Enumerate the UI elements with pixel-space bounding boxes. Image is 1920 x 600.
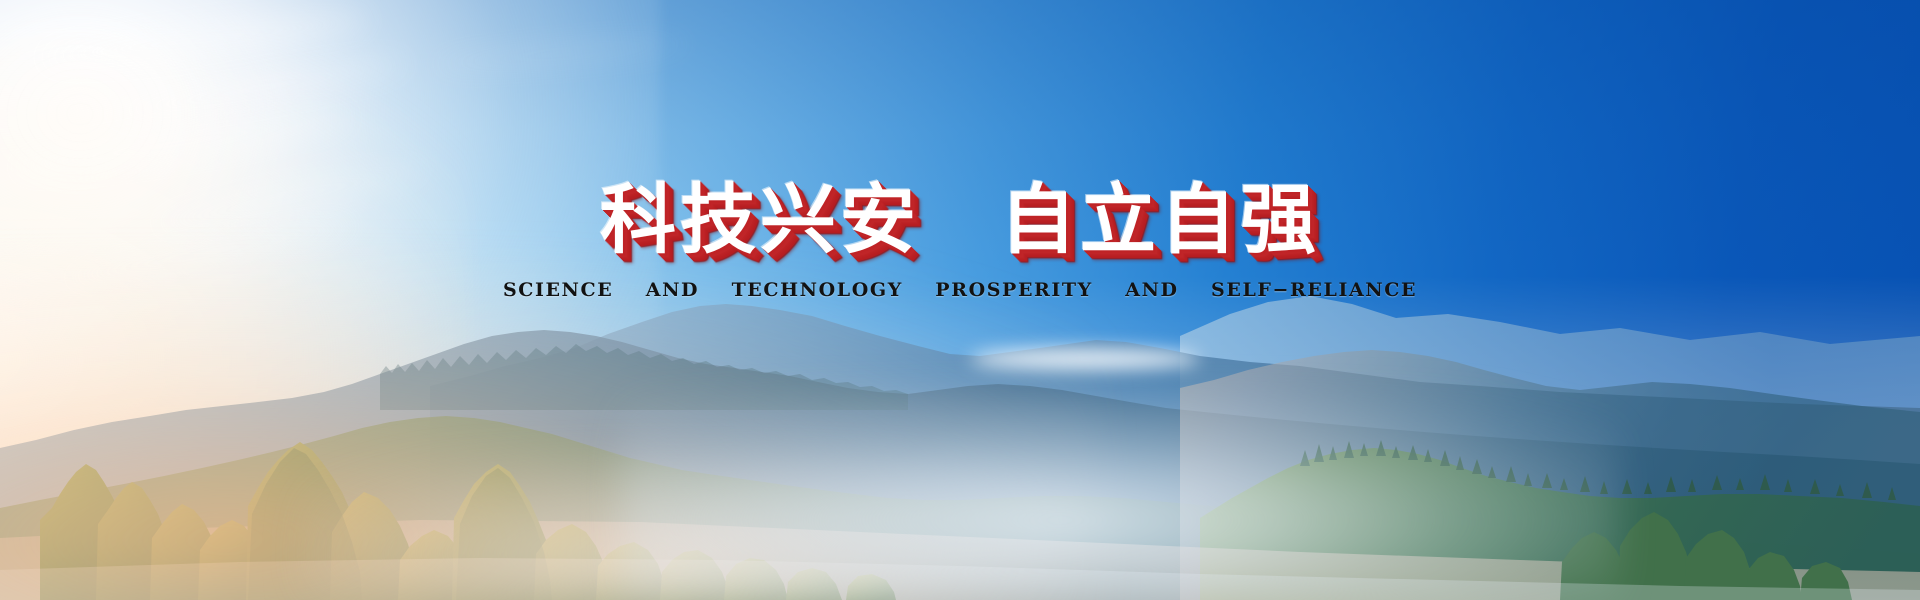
mountain-landscape (0, 270, 1920, 600)
hero-banner: 科技兴安 自立自强 SCIENCE AND TECHNOLOGY PROSPER… (0, 0, 1920, 600)
